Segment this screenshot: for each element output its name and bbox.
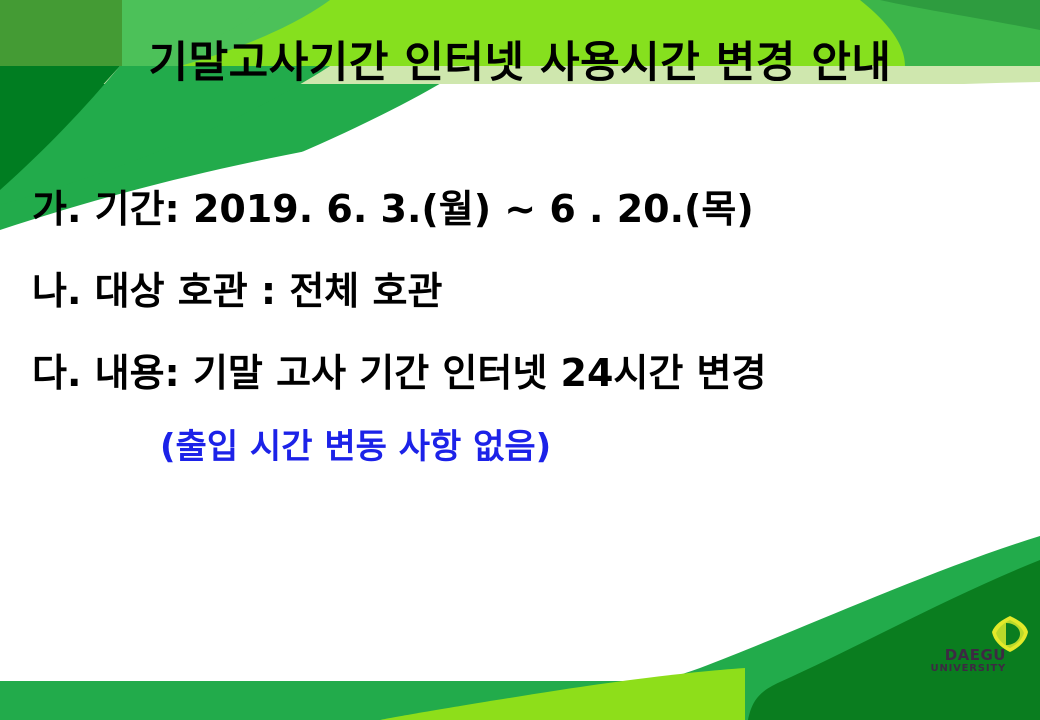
body-line-period: 가. 기간: 2019. 6. 3.(월) ~ 6 . 20.(목) (32, 190, 1040, 228)
body-line-target: 나. 대상 호관 : 전체 호관 (32, 272, 1040, 310)
page-title: 기말고사기간 인터넷 사용시간 변경 안내 (0, 33, 1040, 95)
body-line-note: (출입 시간 변동 사항 없음) (160, 430, 1040, 464)
leaf-emblem-icon (990, 614, 1030, 654)
body-content: 가. 기간: 2019. 6. 3.(월) ~ 6 . 20.(목) 나. 대상… (0, 190, 1040, 464)
logo-subtitle: UNIVERSITY (914, 664, 1006, 674)
slide-canvas: 기말고사기간 인터넷 사용시간 변경 안내 가. 기간: 2019. 6. 3.… (0, 0, 1040, 720)
body-line-content: 다. 내용: 기말 고사 기간 인터넷 24시간 변경 (32, 354, 1040, 392)
daegu-university-logo: DAEGU UNIVERSITY (914, 614, 1032, 676)
